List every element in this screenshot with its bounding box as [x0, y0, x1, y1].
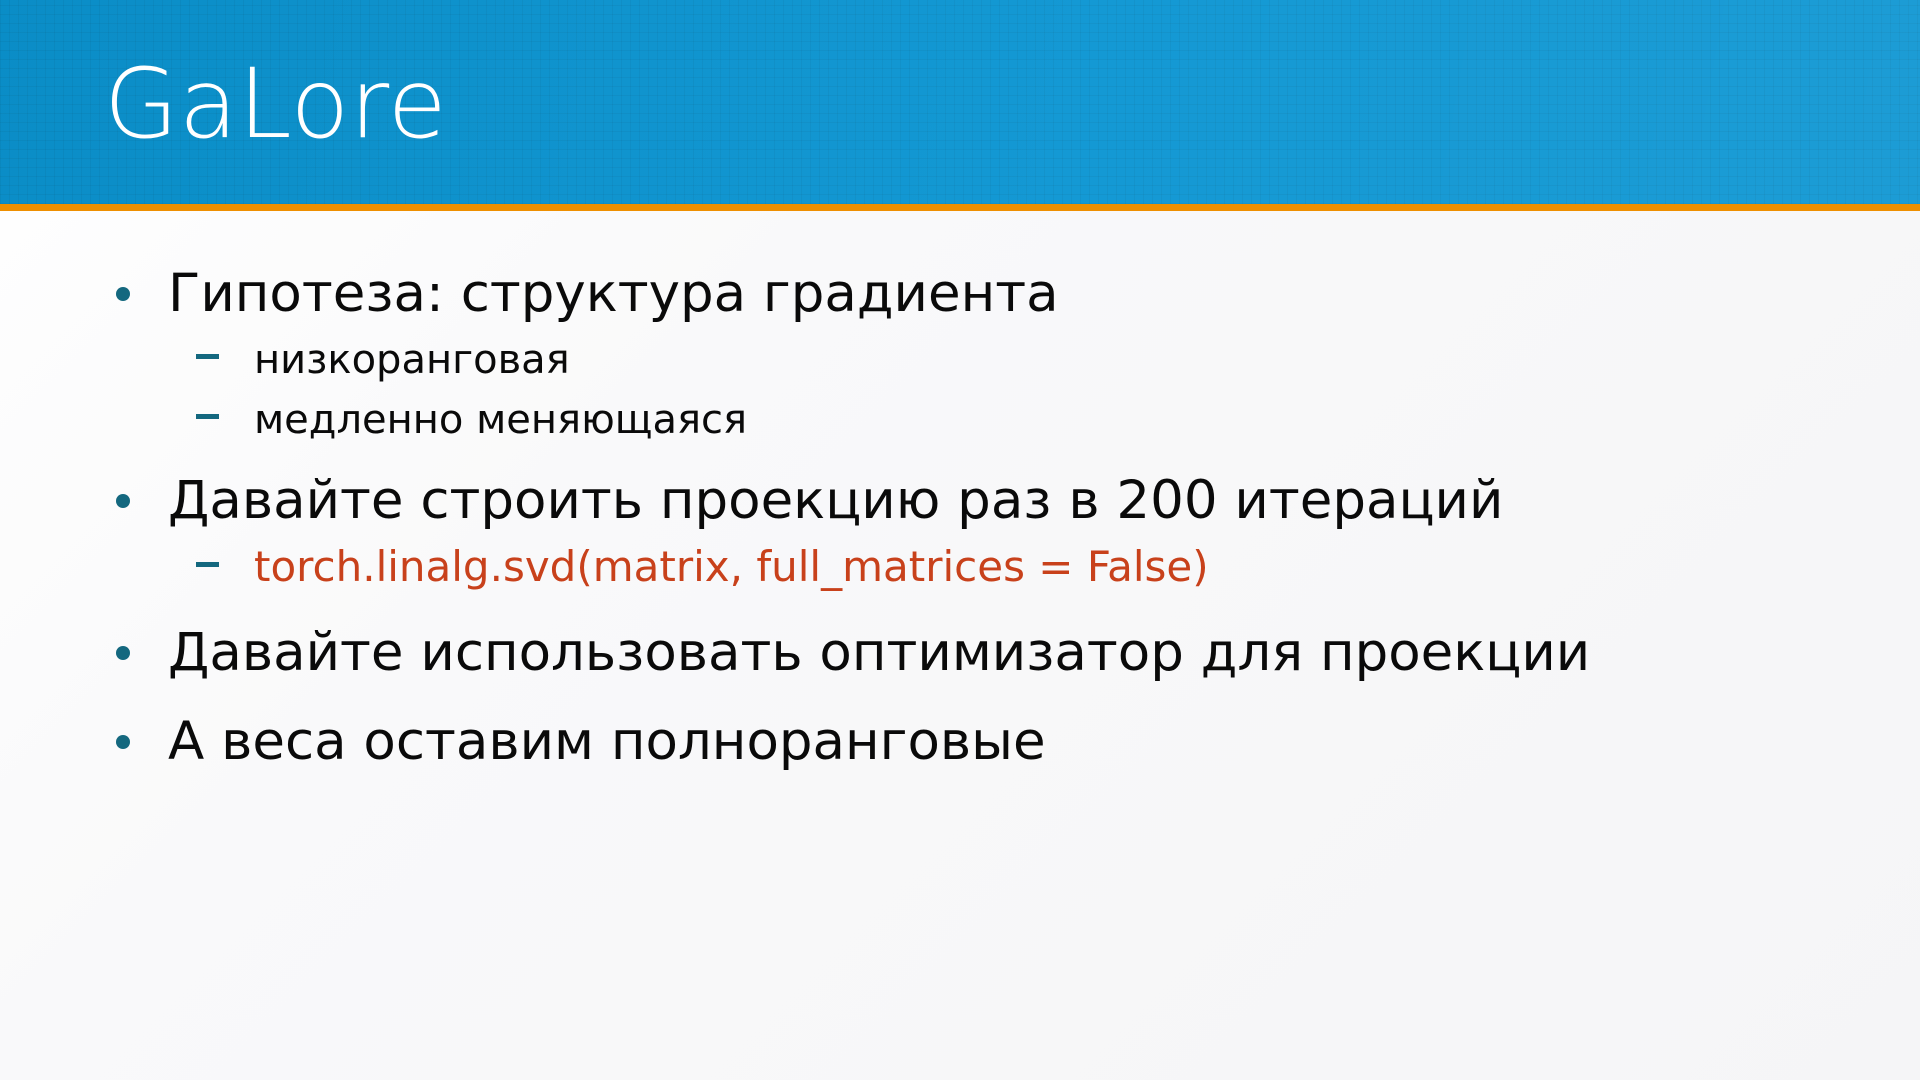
list-item: медленно меняющаяся: [0, 396, 1920, 444]
bullet-dot-icon: [116, 479, 168, 519]
spacer: [0, 456, 1920, 470]
list-item-label: А веса оставим полноранговые: [168, 711, 1046, 774]
list-item: Давайте строить проекцию раз в 200 итера…: [0, 470, 1920, 533]
spacer: [0, 604, 1920, 622]
list-item-label: медленно меняющаяся: [254, 396, 747, 444]
list-item: Давайте использовать оптимизатор для про…: [0, 622, 1920, 685]
list-item-code: torch.linalg.svd(matrix, full_matrices =…: [0, 542, 1920, 592]
slide: GaLore Гипотеза: структура градиента низ…: [0, 0, 1920, 1080]
header-accent-rule: [0, 204, 1920, 211]
bullet-dash-icon: [196, 566, 254, 585]
code-snippet-label: torch.linalg.svd(matrix, full_matrices =…: [254, 542, 1209, 592]
spacer: [0, 695, 1920, 711]
list-item-label: Гипотеза: структура градиента: [168, 263, 1059, 326]
list-item-label: низкоранговая: [254, 336, 570, 384]
bullet-list: Гипотеза: структура градиента низкоранго…: [0, 263, 1920, 774]
bullet-dash-icon: [196, 358, 254, 377]
list-item: низкоранговая: [0, 336, 1920, 384]
slide-header-band: GaLore: [0, 0, 1920, 204]
bullet-dot-icon: [116, 720, 168, 760]
list-item: Гипотеза: структура градиента: [0, 263, 1920, 326]
list-item: А веса оставим полноранговые: [0, 711, 1920, 774]
list-item-label: Давайте строить проекцию раз в 200 итера…: [168, 470, 1503, 533]
page-title: GaLore: [104, 52, 447, 158]
bullet-dot-icon: [116, 631, 168, 671]
bullet-dash-icon: [196, 418, 254, 437]
bullet-dot-icon: [116, 272, 168, 312]
slide-body: Гипотеза: структура градиента низкоранго…: [0, 211, 1920, 1080]
list-item-label: Давайте использовать оптимизатор для про…: [168, 622, 1590, 685]
